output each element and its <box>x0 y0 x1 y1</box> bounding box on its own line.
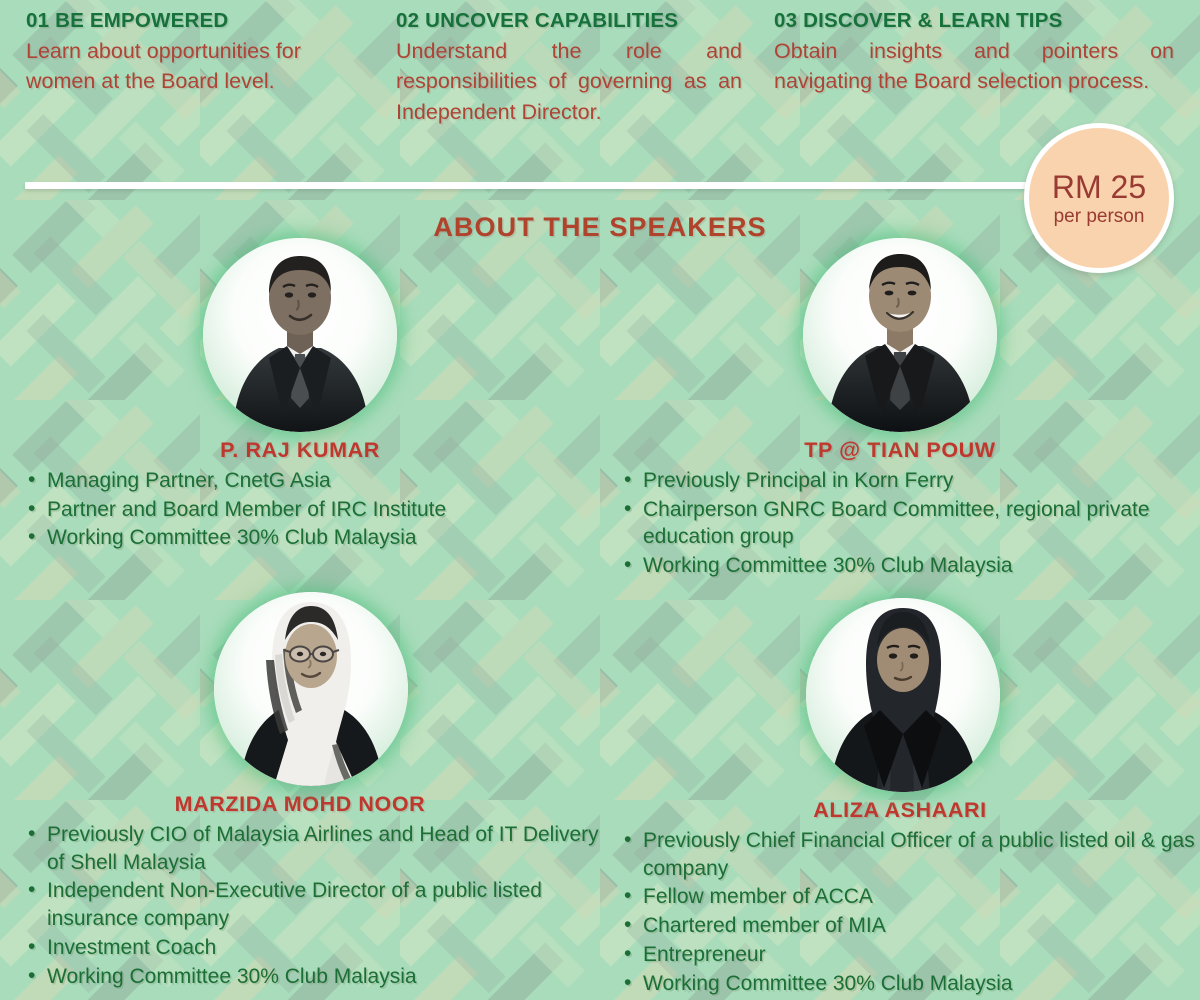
list-item: Previously Principal in Korn Ferry <box>622 467 1200 495</box>
speaker-photo-aliza-ashaari <box>806 598 1000 792</box>
benefit-1-heading: 01 BE EMPOWERED <box>26 10 366 33</box>
benefit-column-1: 01 BE EMPOWERED Learn about opportunitie… <box>0 0 392 150</box>
speaker-card-marzida-mohd-noor: MARZIDA MOHD NOOR Previously CIO of Mala… <box>0 592 600 991</box>
speaker-card-aliza-ashaari: ALIZA ASHAARI Previously Chief Financial… <box>600 598 1200 998</box>
speaker-photo-raj-kumar <box>203 238 397 432</box>
list-item: Working Committee 30% Club Malaysia <box>26 524 600 552</box>
speaker-name-aliza-ashaari: ALIZA ASHAARI <box>600 798 1200 823</box>
speaker-photo-marzida-mohd-noor <box>214 592 408 786</box>
list-item: Independent Non-Executive Director of a … <box>26 877 600 932</box>
list-item: Previously Chief Financial Officer of a … <box>622 827 1200 882</box>
benefit-1-body: Learn about opportunities for women at t… <box>26 36 366 97</box>
speaker-bullets-raj-kumar: Managing Partner, CnetG Asia Partner and… <box>26 467 600 552</box>
list-item: Chartered member of MIA <box>622 912 1200 940</box>
benefit-column-3: 03 DISCOVER & LEARN TIPS Obtain insights… <box>770 0 1200 150</box>
price-amount: RM 25 <box>1052 171 1146 203</box>
speaker-name-raj-kumar: P. RAJ KUMAR <box>0 438 600 463</box>
speaker-photo-tian-pouw <box>803 238 997 432</box>
speaker-card-raj-kumar: P. RAJ KUMAR Managing Partner, CnetG Asi… <box>0 238 600 553</box>
horizontal-divider <box>25 182 1035 189</box>
speaker-bullets-marzida-mohd-noor: Previously CIO of Malaysia Airlines and … <box>26 821 600 990</box>
benefit-2-heading: 02 UNCOVER CAPABILITIES <box>396 10 742 33</box>
benefit-2-body: Understand the role and responsibilities… <box>396 36 742 128</box>
list-item: Previously CIO of Malaysia Airlines and … <box>26 821 600 876</box>
benefit-column-2: 02 UNCOVER CAPABILITIES Understand the r… <box>392 0 770 150</box>
list-item: Partner and Board Member of IRC Institut… <box>26 496 600 524</box>
speaker-card-tian-pouw: TP @ TIAN POUW Previously Principal in K… <box>600 238 1200 581</box>
speaker-name-marzida-mohd-noor: MARZIDA MOHD NOOR <box>0 792 600 817</box>
list-item: Investment Coach <box>26 934 600 962</box>
speaker-bullets-tian-pouw: Previously Principal in Korn Ferry Chair… <box>622 467 1200 580</box>
header-benefits-row: 01 BE EMPOWERED Learn about opportunitie… <box>0 0 1200 150</box>
list-item: Working Committee 30% Club Malaysia <box>622 970 1200 998</box>
speaker-bullets-aliza-ashaari: Previously Chief Financial Officer of a … <box>622 827 1200 997</box>
list-item: Working Committee 30% Club Malaysia <box>26 963 600 991</box>
list-item: Managing Partner, CnetG Asia <box>26 467 600 495</box>
list-item: Chairperson GNRC Board Committee, region… <box>622 496 1200 551</box>
list-item: Entrepreneur <box>622 941 1200 969</box>
benefit-3-body: Obtain insights and pointers on navigati… <box>774 36 1174 97</box>
speaker-name-tian-pouw: TP @ TIAN POUW <box>600 438 1200 463</box>
list-item: Fellow member of ACCA <box>622 883 1200 911</box>
benefit-3-heading: 03 DISCOVER & LEARN TIPS <box>774 10 1174 33</box>
list-item: Working Committee 30% Club Malaysia <box>622 552 1200 580</box>
